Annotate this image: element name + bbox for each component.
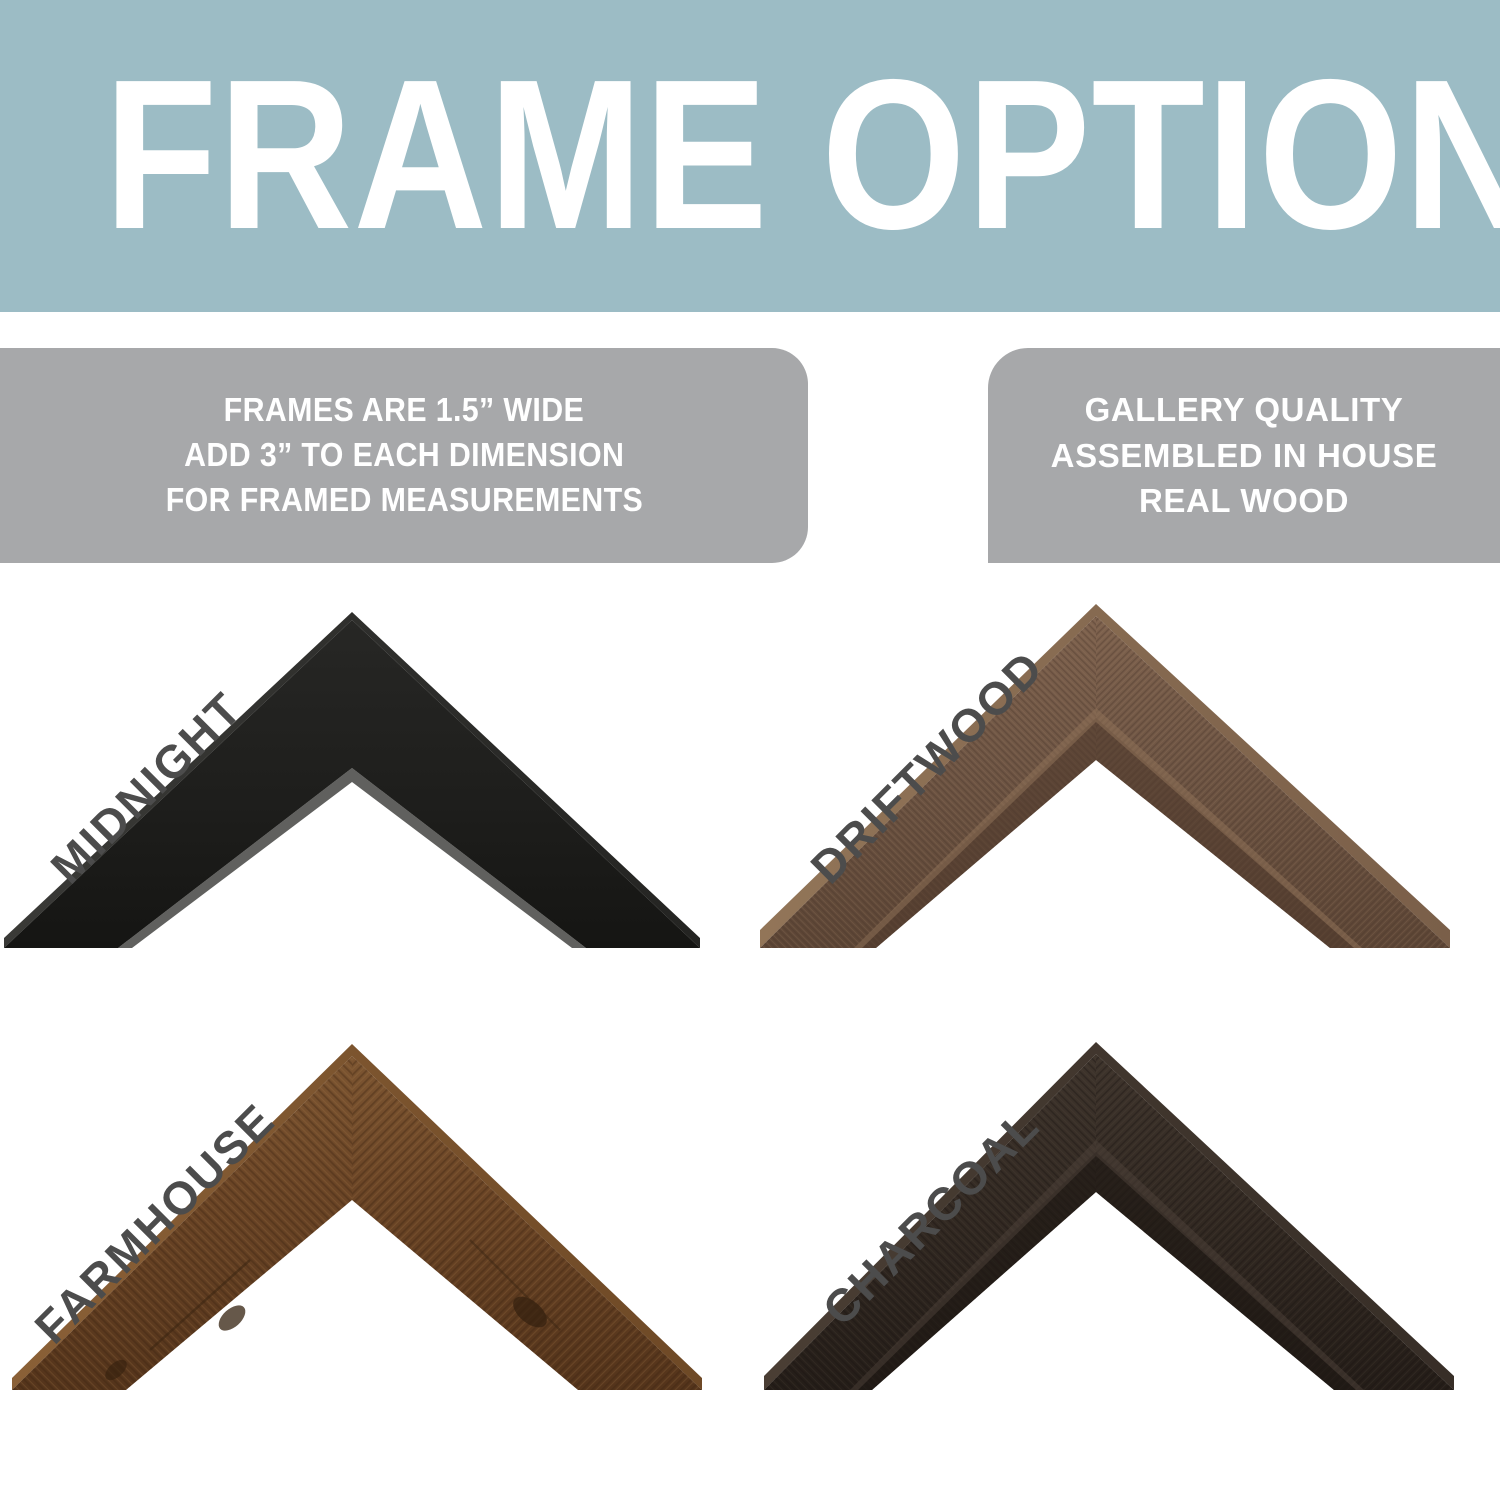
measurement-line-1: FRAMES ARE 1.5” WIDE <box>224 388 584 433</box>
info-box-quality: GALLERY QUALITY ASSEMBLED IN HOUSE REAL … <box>988 348 1500 563</box>
info-box-measurements: FRAMES ARE 1.5” WIDE ADD 3” TO EACH DIME… <box>0 348 808 563</box>
header-banner: FRAME OPTIONS <box>0 0 1500 312</box>
quality-line-3: REAL WOOD <box>1139 478 1349 524</box>
measurement-line-2: ADD 3” TO EACH DIMENSION <box>184 433 624 478</box>
quality-line-2: ASSEMBLED IN HOUSE <box>1051 433 1438 479</box>
page-title: FRAME OPTIONS <box>104 55 1500 258</box>
measurement-line-3: FOR FRAMED MEASUREMENTS <box>165 478 642 523</box>
quality-line-1: GALLERY QUALITY <box>1085 387 1404 433</box>
